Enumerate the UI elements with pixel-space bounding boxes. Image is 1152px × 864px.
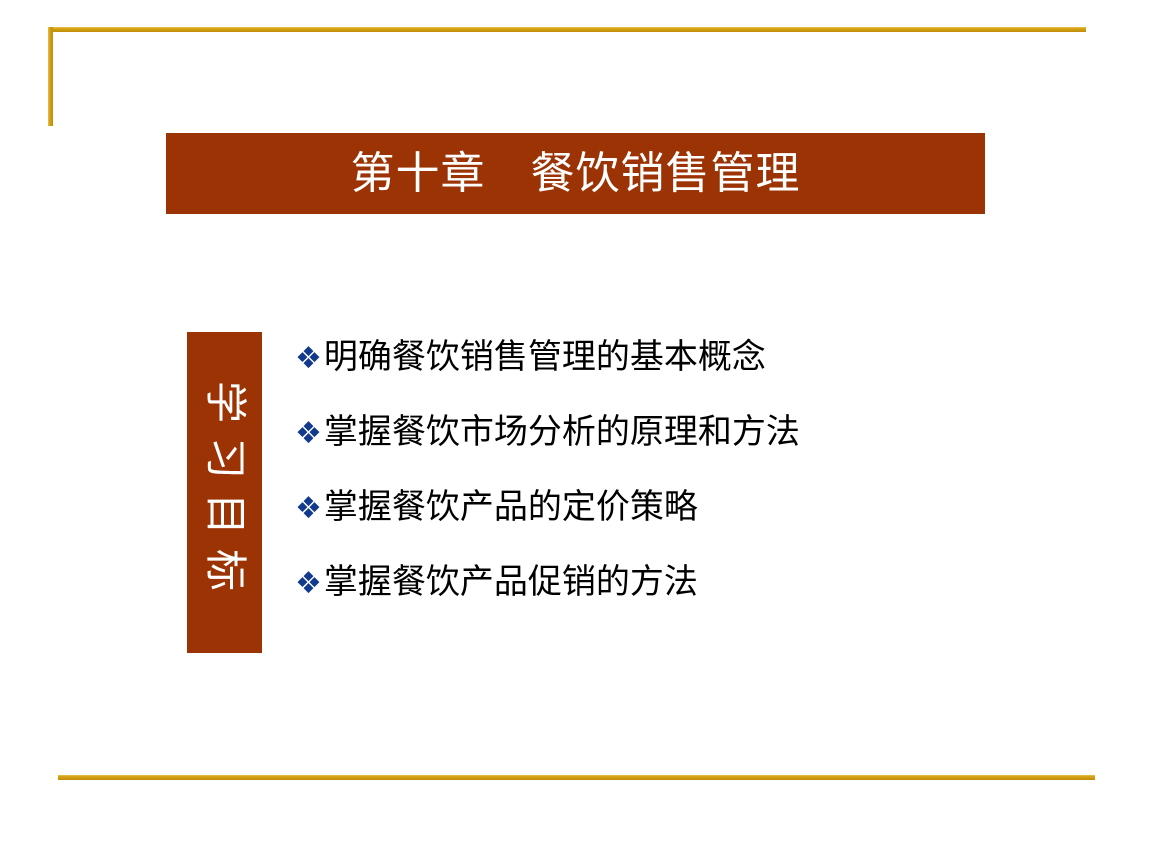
left-gold-rule	[48, 27, 53, 126]
diamond-bullet-icon: ❖	[295, 419, 322, 449]
diamond-bullet-icon: ❖	[295, 494, 322, 524]
top-gold-rule	[48, 27, 1086, 32]
diamond-bullet-icon: ❖	[295, 344, 322, 374]
diamond-bullet-icon: ❖	[295, 569, 322, 599]
learning-objectives-block: 学习目标 ❖ 明确餐饮销售管理的基本概念 ❖ 掌握餐饮市场分析的原理和方法 ❖ …	[187, 332, 887, 654]
list-item: ❖ 掌握餐饮产品的定价策略	[295, 490, 895, 565]
list-item-label: 明确餐饮销售管理的基本概念	[324, 340, 766, 374]
objectives-list: ❖ 明确餐饮销售管理的基本概念 ❖ 掌握餐饮市场分析的原理和方法 ❖ 掌握餐饮产…	[295, 340, 895, 640]
title-banner: 第十章 餐饮销售管理	[166, 133, 985, 214]
list-item: ❖ 掌握餐饮产品促销的方法	[295, 565, 895, 640]
page-title: 第十章 餐饮销售管理	[351, 152, 801, 196]
list-item-label: 掌握餐饮市场分析的原理和方法	[324, 415, 800, 449]
list-item-label: 掌握餐饮产品促销的方法	[324, 565, 698, 599]
vertical-label-bar: 学习目标	[187, 332, 262, 653]
list-item: ❖ 明确餐饮销售管理的基本概念	[295, 340, 895, 415]
bottom-gold-rule	[58, 775, 1095, 780]
list-item: ❖ 掌握餐饮市场分析的原理和方法	[295, 415, 895, 490]
slide-canvas: 第十章 餐饮销售管理 学习目标 ❖ 明确餐饮销售管理的基本概念 ❖ 掌握餐饮市场…	[0, 0, 1152, 864]
list-item-label: 掌握餐饮产品的定价策略	[324, 490, 698, 524]
learning-objectives-label: 学习目标	[198, 380, 252, 604]
